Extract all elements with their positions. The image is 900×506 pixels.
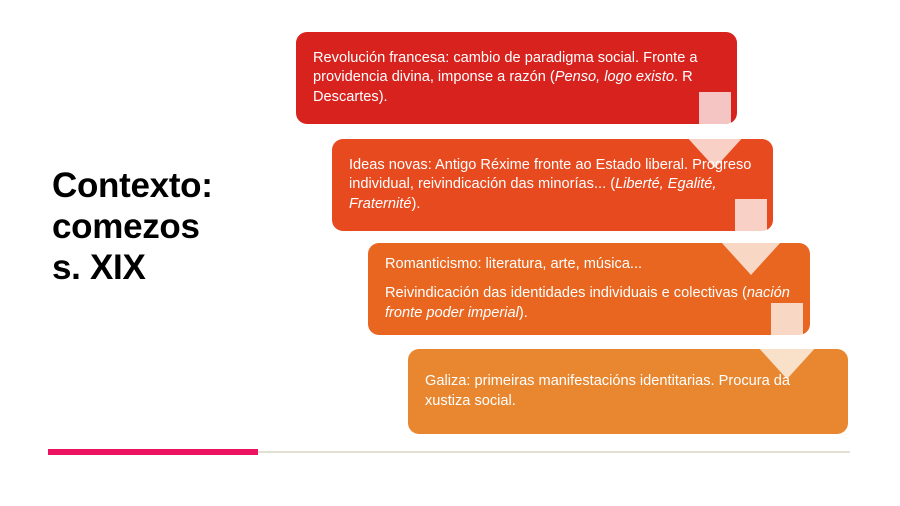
arrow-down-icon [685, 92, 745, 168]
footer-rule-base [258, 451, 850, 453]
step-paragraph: Reivindicación das identidades individua… [385, 284, 792, 323]
footer-rule-accent [48, 449, 258, 455]
emphasis-text: Penso, logo existo [555, 69, 674, 85]
arrow-down-icon [721, 199, 781, 275]
arrow-head [685, 135, 745, 168]
arrow-shaft [699, 92, 731, 136]
slide-canvas: Contexto: comezos s. XIX Revolución fran… [0, 0, 900, 506]
arrow-shaft [771, 303, 803, 347]
arrow-head [757, 346, 817, 379]
arrow-head [721, 242, 781, 275]
step-box-revolucion-francesa: Revolución francesa: cambio de paradigma… [296, 32, 737, 124]
body-text: ). [519, 305, 528, 321]
body-text: ). [411, 196, 420, 212]
page-title: Contexto: comezos s. XIX [52, 166, 287, 289]
step-paragraph: Revolución francesa: cambio de paradigma… [313, 49, 719, 107]
arrow-down-icon [757, 303, 817, 379]
body-text: Galiza: primeiras manifestacións identit… [425, 373, 790, 408]
body-text: Romanticismo: literatura, arte, música..… [385, 256, 642, 272]
arrow-shaft [735, 199, 767, 243]
body-text: Reivindicación das identidades individua… [385, 285, 747, 301]
